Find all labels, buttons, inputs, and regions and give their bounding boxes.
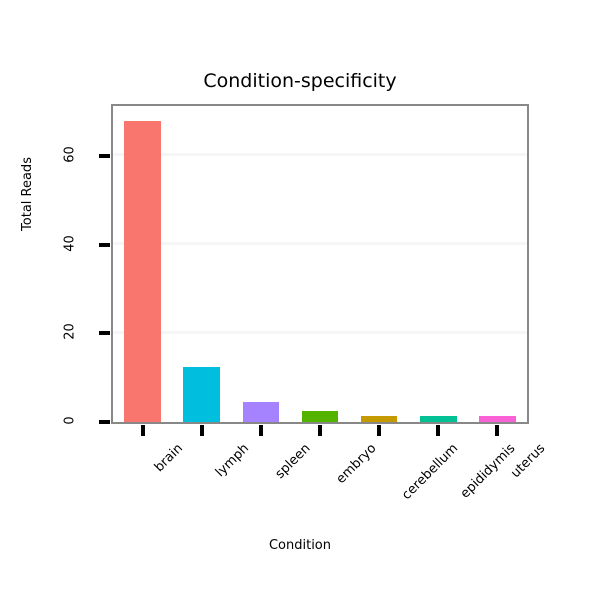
- bar-uterus[interactable]: [479, 416, 516, 422]
- y-tick-mark: [99, 154, 110, 158]
- x-tick-mark: [436, 425, 440, 436]
- gridline: [113, 331, 527, 334]
- x-tick-mark: [495, 425, 499, 436]
- bar-spleen[interactable]: [243, 402, 280, 422]
- x-tick-mark: [259, 425, 263, 436]
- x-tick-mark: [141, 425, 145, 436]
- plot-panel: [111, 104, 529, 424]
- x-tick-label-cerebellum: cerebellum: [399, 441, 461, 503]
- y-tick-label: 60: [63, 135, 78, 175]
- chart-figure: Condition-specificity Total Reads Condit…: [0, 0, 600, 600]
- y-tick-mark: [99, 243, 110, 247]
- y-tick-label: 40: [63, 223, 78, 263]
- x-tick-label-brain: brain: [151, 441, 185, 475]
- chart-title: Condition-specificity: [0, 70, 600, 92]
- bar-embryo[interactable]: [302, 411, 339, 422]
- x-tick-label-spleen: spleen: [272, 441, 313, 482]
- bar-epididymis[interactable]: [420, 416, 457, 422]
- bar-lymph[interactable]: [183, 367, 220, 422]
- y-tick-mark: [99, 420, 110, 424]
- y-tick-label: 0: [63, 401, 78, 441]
- x-tick-mark: [377, 425, 381, 436]
- y-tick-label: 20: [63, 312, 78, 352]
- x-tick-mark: [318, 425, 322, 436]
- gridline: [113, 242, 527, 245]
- x-tick-mark: [200, 425, 204, 436]
- y-tick-mark: [99, 331, 110, 335]
- x-tick-label-embryo: embryo: [334, 441, 380, 487]
- bar-brain[interactable]: [124, 121, 161, 422]
- y-axis-label: Total Reads: [20, 124, 35, 264]
- bar-cerebellum[interactable]: [361, 416, 398, 422]
- x-axis-label: Condition: [0, 538, 600, 553]
- x-tick-label-lymph: lymph: [213, 441, 252, 480]
- gridline: [113, 153, 527, 156]
